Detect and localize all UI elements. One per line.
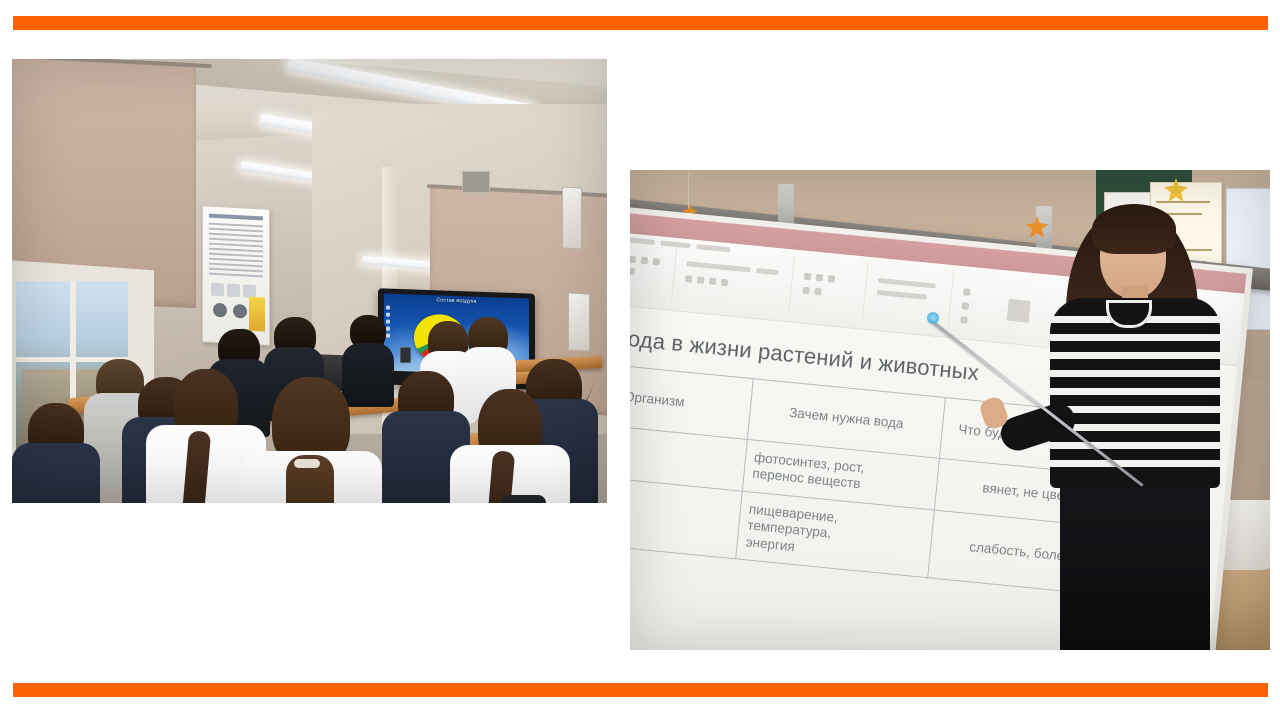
- classroom-photo: Состав воздуха 78%: [12, 59, 607, 503]
- poster-text-line: [209, 238, 263, 243]
- shirt-stripe: [1050, 460, 1220, 467]
- whiteboard-photo: ...ода в жизни растений и животных Орган…: [630, 170, 1270, 650]
- backpack: [502, 495, 546, 503]
- poster-pictogram: [213, 303, 227, 318]
- ribbon-icon-align-left[interactable]: [804, 273, 812, 281]
- ribbon-separator: [948, 271, 955, 329]
- shirt-stripe: [1050, 388, 1220, 395]
- poster-text-line: [209, 258, 263, 263]
- student-body: [342, 343, 394, 407]
- poster-text-line: [209, 248, 263, 253]
- shirt-stripe: [1050, 424, 1220, 431]
- ribbon-icon-format[interactable]: [630, 267, 635, 275]
- poster-title-bar: [209, 214, 263, 221]
- teacher-striped-top: [1050, 298, 1220, 488]
- shirt-stripe: [1050, 334, 1220, 341]
- hanging-string: [688, 170, 689, 210]
- whiteboard-slide-title: Состав воздуха: [384, 295, 529, 306]
- ribbon-icon-copy[interactable]: [652, 258, 660, 266]
- poster-text-line: [209, 263, 263, 268]
- ribbon-icon-align-center[interactable]: [816, 274, 824, 282]
- teacher-trousers: [1060, 470, 1210, 650]
- toolbar-side-icon: [386, 313, 390, 317]
- ribbon-icon-underline[interactable]: [709, 277, 717, 285]
- poster-text-line: [209, 228, 263, 233]
- ribbon-font-name[interactable]: [686, 261, 750, 272]
- ribbon-font-size[interactable]: [756, 268, 778, 275]
- shirt-stripe: [1050, 442, 1220, 449]
- ribbon-icon-bold[interactable]: [685, 275, 693, 283]
- shirt-stripe: [1050, 352, 1220, 359]
- student-body: [12, 443, 100, 503]
- projector-mount: [462, 171, 490, 193]
- ribbon-icon-cut[interactable]: [640, 257, 648, 265]
- poster-text-line: [209, 253, 263, 258]
- poster-text-line: [209, 243, 263, 248]
- ribbon-icon-dictate[interactable]: [1007, 299, 1031, 323]
- ribbon-icon-color[interactable]: [721, 279, 729, 287]
- ribbon-icon-find[interactable]: [963, 288, 971, 296]
- wall-speaker: [568, 292, 590, 351]
- poster-pictogram: [211, 283, 224, 297]
- wall-speaker: [562, 186, 582, 249]
- poster-text-line: [209, 233, 263, 238]
- ribbon-separator: [788, 256, 795, 314]
- ribbon-icon-align-right[interactable]: [828, 275, 836, 283]
- smartphone: [400, 347, 411, 363]
- teacher-fringe: [1092, 204, 1176, 254]
- bottom-orange-rule: [13, 683, 1268, 697]
- hair-tie: [294, 459, 320, 468]
- ribbon-icon-numbering[interactable]: [814, 288, 822, 296]
- ribbon-tab[interactable]: [696, 244, 730, 252]
- poster-text-line: [209, 268, 263, 273]
- ribbon-tab[interactable]: [630, 237, 655, 245]
- poster-pictogram: [227, 284, 240, 298]
- poster-text-line: [209, 223, 263, 228]
- ribbon-separator: [862, 263, 869, 321]
- ribbon-style-gallery[interactable]: [877, 290, 927, 300]
- ribbon-icon-select[interactable]: [960, 316, 968, 324]
- poster-pictogram: [233, 304, 247, 319]
- top-orange-rule: [13, 16, 1268, 30]
- poster-text-line: [209, 273, 263, 278]
- ribbon-separator: [671, 244, 678, 302]
- shirt-collar: [1106, 300, 1152, 328]
- shirt-stripe: [1050, 370, 1220, 377]
- toolbar-side-icon: [386, 334, 390, 338]
- wall-poster: [202, 205, 270, 346]
- ribbon-icon-italic[interactable]: [697, 276, 705, 284]
- pointer-tip: [927, 312, 939, 324]
- toolbar-side-icon: [386, 320, 390, 324]
- ribbon-style-gallery[interactable]: [878, 278, 936, 289]
- toolbar-side-icon: [386, 306, 390, 310]
- column-header-organism: Организм: [630, 360, 753, 440]
- ribbon-icon-list[interactable]: [802, 287, 810, 295]
- slide-canvas: Состав воздуха 78%: [0, 0, 1280, 720]
- toolbar-side-icon: [386, 327, 390, 331]
- shirt-stripe: [1050, 406, 1220, 413]
- ribbon-icon-replace[interactable]: [962, 302, 970, 310]
- ribbon-icon-paste[interactable]: [630, 256, 636, 264]
